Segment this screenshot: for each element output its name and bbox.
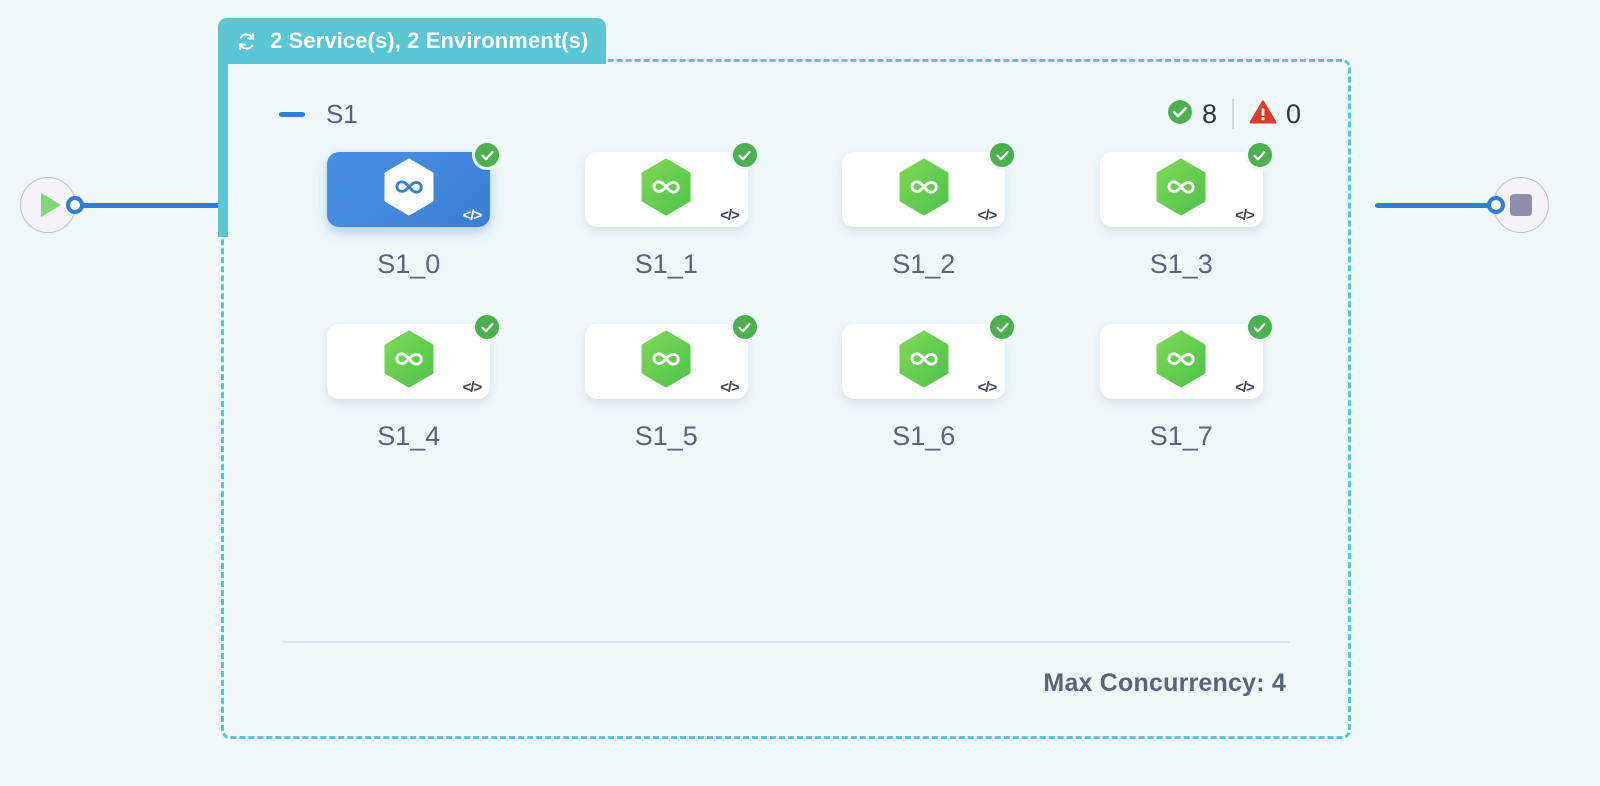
node-card-wrapper: </> <box>842 152 1005 227</box>
node-card-s1-3[interactable]: </> <box>1100 152 1263 227</box>
service-hexagon-icon <box>1154 158 1208 221</box>
group-header-row: S1 8 <box>279 94 1301 134</box>
code-icon[interactable]: </> <box>463 207 482 224</box>
service-hexagon-icon <box>1154 330 1208 393</box>
check-circle-icon <box>987 140 1017 170</box>
code-icon[interactable]: </> <box>463 379 482 396</box>
node-cell: </> S1_5 <box>538 324 796 452</box>
success-status: 8 <box>1167 99 1217 130</box>
max-concurrency-label: Max Concurrency: 4 <box>1043 669 1286 698</box>
node-cell: </> S1_6 <box>795 324 1053 452</box>
service-hexagon-icon <box>897 158 951 221</box>
end-node-input-port[interactable] <box>1487 196 1505 214</box>
edge-start-to-group <box>78 203 224 208</box>
node-card-wrapper: </> <box>1100 152 1263 227</box>
check-circle-icon <box>730 140 760 170</box>
group-container: S1 8 <box>221 59 1351 739</box>
error-status: 0 <box>1249 99 1301 130</box>
node-label: S1_7 <box>1150 421 1213 452</box>
node-grid: </> S1_0 <box>280 152 1310 452</box>
node-label: S1_2 <box>892 249 955 280</box>
footer-divider <box>283 641 1290 643</box>
service-hexagon-icon <box>897 330 951 393</box>
start-node-output-port[interactable] <box>66 196 84 214</box>
check-circle-icon <box>1167 99 1193 130</box>
node-cell: </> S1_1 <box>538 152 796 280</box>
code-icon[interactable]: </> <box>1235 207 1254 224</box>
code-icon[interactable]: </> <box>1235 379 1254 396</box>
play-icon <box>41 193 61 217</box>
node-label: S1_4 <box>377 421 440 452</box>
node-card-wrapper: </> <box>327 324 490 399</box>
service-hexagon-icon <box>382 330 436 393</box>
error-count: 0 <box>1286 99 1301 130</box>
group-header-tab[interactable]: 2 Service(s), 2 Environment(s) <box>218 18 606 64</box>
node-cell: </> S1_7 <box>1053 324 1311 452</box>
check-circle-icon <box>1245 140 1275 170</box>
service-hexagon-icon <box>639 330 693 393</box>
loop-refresh-icon <box>234 29 259 54</box>
code-icon[interactable]: </> <box>720 379 739 396</box>
check-circle-icon <box>472 312 502 342</box>
node-label: S1_0 <box>377 249 440 280</box>
minus-icon[interactable] <box>279 112 305 117</box>
service-hexagon-icon <box>382 158 436 221</box>
node-card-wrapper: </> <box>1100 324 1263 399</box>
node-label: S1_1 <box>635 249 698 280</box>
node-card-s1-0[interactable]: </> <box>327 152 490 227</box>
node-card-s1-5[interactable]: </> <box>585 324 748 399</box>
group-spine <box>218 62 228 237</box>
check-circle-icon <box>472 140 502 170</box>
node-cell: </> S1_3 <box>1053 152 1311 280</box>
node-card-s1-7[interactable]: </> <box>1100 324 1263 399</box>
code-icon[interactable]: </> <box>978 207 997 224</box>
node-card-s1-4[interactable]: </> <box>327 324 490 399</box>
node-card-s1-1[interactable]: </> <box>585 152 748 227</box>
group-tab-label: 2 Service(s), 2 Environment(s) <box>270 28 588 54</box>
node-card-wrapper: </> <box>585 152 748 227</box>
check-circle-icon <box>1245 312 1275 342</box>
node-card-s1-2[interactable]: </> <box>842 152 1005 227</box>
node-cell: </> S1_2 <box>795 152 1053 280</box>
node-card-s1-6[interactable]: </> <box>842 324 1005 399</box>
node-label: S1_6 <box>892 421 955 452</box>
node-card-wrapper: </> <box>327 152 490 227</box>
node-label: S1_5 <box>635 421 698 452</box>
check-circle-icon <box>987 312 1017 342</box>
node-cell: </> S1_0 <box>280 152 538 280</box>
group-title: S1 <box>326 99 358 130</box>
warning-triangle-icon <box>1249 99 1277 130</box>
node-card-wrapper: </> <box>842 324 1005 399</box>
success-count: 8 <box>1202 99 1217 130</box>
workflow-canvas: 2 Service(s), 2 Environment(s) S1 8 <box>0 0 1600 786</box>
code-icon[interactable]: </> <box>720 207 739 224</box>
code-icon[interactable]: </> <box>978 379 997 396</box>
node-label: S1_3 <box>1150 249 1213 280</box>
service-hexagon-icon <box>639 158 693 221</box>
group-status-cluster: 8 0 <box>1167 99 1301 130</box>
check-circle-icon <box>730 312 760 342</box>
node-cell: </> S1_4 <box>280 324 538 452</box>
node-card-wrapper: </> <box>585 324 748 399</box>
stop-icon <box>1510 194 1532 216</box>
status-divider <box>1232 99 1234 129</box>
